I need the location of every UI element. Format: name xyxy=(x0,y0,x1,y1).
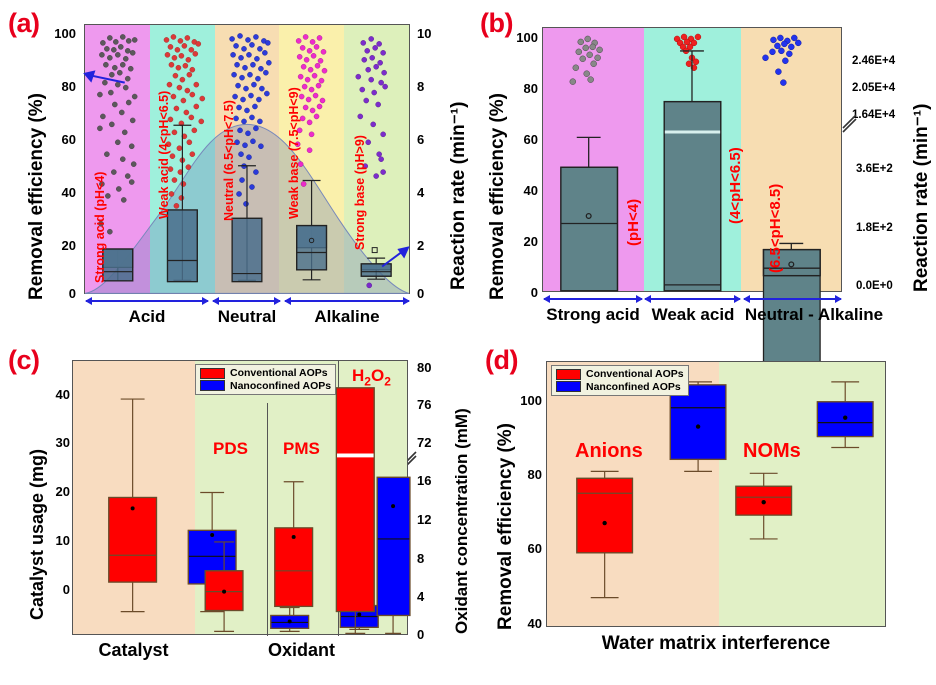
panel-a-ytick-left-0: 100 xyxy=(34,26,76,41)
panel-c-band-oxidant xyxy=(195,361,407,634)
panel-d-legend-label-conventional: Conventional AOPs xyxy=(586,368,684,381)
panel-a-ytick-left-2: 60 xyxy=(34,132,76,147)
panel-d-note-anions: Anions xyxy=(575,440,643,463)
panel-b-xcat-strong-acid: Strong acid xyxy=(538,305,648,325)
panel-d-legend-label-nanconfined: Nanconfined AOPs xyxy=(586,381,681,394)
panel-a-xcat-neutral: Neutral xyxy=(206,307,288,327)
panel-c-legend-row-nanoconfined: Nanoconfined AOPs xyxy=(200,380,331,393)
panel-a-ytick-right-1: 8 xyxy=(417,79,424,94)
panel-c-ytick-left-3: 10 xyxy=(40,533,70,548)
panel-a-ytick-right-4: 2 xyxy=(417,238,424,253)
legend-swatch-nanconfined xyxy=(556,381,581,392)
legend-swatch-nanoconfined xyxy=(200,380,225,391)
panel-b-range-neutral-alkaline xyxy=(744,298,841,300)
legend-swatch-conventional xyxy=(200,368,225,379)
panel-a-range-neutral xyxy=(213,300,280,302)
panel-c-note-pms: PMS xyxy=(283,439,320,459)
panel-c-legend-label-nanoconfined: Nanoconfined AOPs xyxy=(230,380,331,393)
panel-b-bands xyxy=(543,28,841,291)
panel-a-ytick-right-5: 0 xyxy=(417,286,424,301)
panel-b-band-note-2: (4<pH<6.5) xyxy=(727,147,744,224)
panel-c-band-catalyst xyxy=(73,361,195,634)
panel-c-ytick-right-2: 72 xyxy=(417,435,431,450)
panel-c-legend-label-conventional: Conventional AOPs xyxy=(230,367,328,380)
panel-d-ytick-left-2: 60 xyxy=(508,541,542,556)
panel-b-ytick-right-1: 2.05E+4 xyxy=(852,82,895,94)
panel-b-plot-area: (pH<4) (4<pH<6.5) (6.5<pH<8.5) xyxy=(542,27,842,292)
panel-b-ytick-right-3: 3.6E+2 xyxy=(856,163,893,175)
panel-c-ytick-right-5: 8 xyxy=(417,551,424,566)
panel-c-ytick-left-1: 30 xyxy=(40,435,70,450)
panel-a-band-note-4: Weak base (7.5<pH<9) xyxy=(287,87,301,219)
panel-c-xcat-oxidant: Oxidant xyxy=(195,640,408,661)
panel-d-ylabel-left: Removal efficiency (%) xyxy=(495,423,517,630)
panel-b-xcat-neutral-alkaline: Neutral - Alkaline xyxy=(734,305,894,325)
panel-c-ytick-left-0: 40 xyxy=(40,387,70,402)
panel-b-range-strong-acid xyxy=(544,298,642,300)
panel-b-xcat-weak-acid: Weak acid xyxy=(642,305,744,325)
panel-a-band-note-5: Strong base (pH>9) xyxy=(353,135,367,250)
panel-a-ytick-left-4: 20 xyxy=(34,238,76,253)
panel-d-note-noms: NOMs xyxy=(743,440,801,463)
panel-b-band-note-1: (pH<4) xyxy=(625,199,642,246)
panel-c-ytick-right-6: 4 xyxy=(417,589,424,604)
panel-a-ytick-right-0: 10 xyxy=(417,26,431,41)
panel-c-separator-pds-pms xyxy=(267,403,268,636)
panel-d-band-anions xyxy=(547,362,719,626)
panel-c-ytick-right-3: 16 xyxy=(417,473,431,488)
panel-b-ytick-left-1: 80 xyxy=(496,81,538,96)
panel-b-ylabel-right: Reaction rate (min⁻¹) xyxy=(910,104,933,292)
panel-b-ytick-left-4: 20 xyxy=(496,234,538,249)
panel-c-bands xyxy=(73,361,407,634)
panel-b-ytick-right-4: 1.8E+2 xyxy=(856,222,893,234)
panel-a-range-acid xyxy=(86,300,208,302)
figure-root: (a) Removal efficiency (%) Reaction rate… xyxy=(0,0,936,685)
panel-b-axis-break-icon xyxy=(841,112,859,134)
panel-b-band-strong-acid xyxy=(543,28,644,291)
panel-c-ytick-left-4: 0 xyxy=(40,582,70,597)
panel-a-ytick-right-2: 6 xyxy=(417,132,424,147)
panel-a-plot-area: Strong acid (pH<4) Weak acid (4<pH<6.5) … xyxy=(84,24,410,294)
panel-d-band-noms xyxy=(719,362,885,626)
panel-d-ytick-left-1: 80 xyxy=(508,467,542,482)
panel-c: (c) Catalyst usage (mg) Oxidant concentr… xyxy=(0,340,470,685)
panel-b-band-neutral-alkaline xyxy=(741,28,841,291)
legend-swatch-conventional xyxy=(556,369,581,380)
panel-b-ytick-left-5: 0 xyxy=(496,285,538,300)
panel-d-tag: (d) xyxy=(485,345,518,376)
panel-a-xcat-acid: Acid xyxy=(86,307,208,327)
panel-b-range-weak-acid xyxy=(645,298,740,300)
panel-a-range-alkaline xyxy=(285,300,409,302)
panel-c-separator-pms-h2o2 xyxy=(338,361,339,636)
panel-a-band-note-3: Neutral (6.5<pH<7.5) xyxy=(222,100,236,221)
panel-c-ytick-right-7: 0 xyxy=(417,627,424,642)
panel-b-ytick-left-0: 100 xyxy=(496,30,538,45)
panel-a-ytick-right-3: 4 xyxy=(417,185,424,200)
panel-a: (a) Removal efficiency (%) Reaction rate… xyxy=(0,0,470,340)
panel-a-ytick-left-5: 0 xyxy=(34,286,76,301)
panel-c-xcat-catalyst: Catalyst xyxy=(72,640,195,661)
panel-c-ytick-right-0: 80 xyxy=(417,360,431,375)
panel-c-ylabel-right: Oxidant concentration (mM) xyxy=(452,408,472,634)
panel-d-ytick-left-0: 100 xyxy=(508,393,542,408)
panel-b-ytick-right-0: 2.46E+4 xyxy=(852,55,895,67)
panel-c-note-h2o2: H2O2 xyxy=(352,366,391,388)
panel-c-ytick-left-2: 20 xyxy=(40,484,70,499)
panel-d-plot-area: Conventional AOPs Nanconfined AOPs Anion… xyxy=(546,361,886,627)
panel-b: (b) Removal efficiency (%) Reaction rate… xyxy=(470,0,936,340)
panel-b-ytick-right-5: 0.0E+0 xyxy=(856,280,893,292)
panel-a-xcat-alkaline: Alkaline xyxy=(285,307,409,327)
panel-d-bands xyxy=(547,362,885,626)
panel-a-ytick-left-1: 80 xyxy=(34,79,76,94)
panel-c-legend: Conventional AOPs Nanoconfined AOPs xyxy=(195,364,336,395)
panel-d-ytick-left-3: 40 xyxy=(508,616,542,631)
panel-b-ytick-left-3: 40 xyxy=(496,183,538,198)
panel-d-legend-row-conventional: Conventional AOPs xyxy=(556,368,684,381)
panel-d-legend-row-nanconfined: Nanconfined AOPs xyxy=(556,381,684,394)
panel-b-ytick-left-2: 60 xyxy=(496,132,538,147)
panel-a-ytick-left-3: 40 xyxy=(34,185,76,200)
panel-c-plot-area: Conventional AOPs Nanoconfined AOPs PDS … xyxy=(72,360,408,635)
panel-b-band-note-3: (6.5<pH<8.5) xyxy=(767,184,784,273)
panel-a-band-note-1: Strong acid (pH<4) xyxy=(93,172,107,283)
panel-c-legend-row-conventional: Conventional AOPs xyxy=(200,367,331,380)
panel-c-note-pds: PDS xyxy=(213,439,248,459)
panel-a-ylabel-right: Reaction rate (min⁻¹) xyxy=(447,102,470,290)
panel-c-ytick-right-4: 12 xyxy=(417,512,431,527)
panel-d: (d) Removal efficiency (%) 100 80 60 40 xyxy=(470,340,936,685)
panel-d-xcat: Water matrix interference xyxy=(546,633,886,655)
panel-d-legend: Conventional AOPs Nanconfined AOPs xyxy=(551,365,689,396)
panel-c-tag: (c) xyxy=(8,345,40,376)
panel-a-band-note-2: Weak acid (4<pH<6.5) xyxy=(157,91,171,219)
panel-c-ytick-right-1: 76 xyxy=(417,397,431,412)
